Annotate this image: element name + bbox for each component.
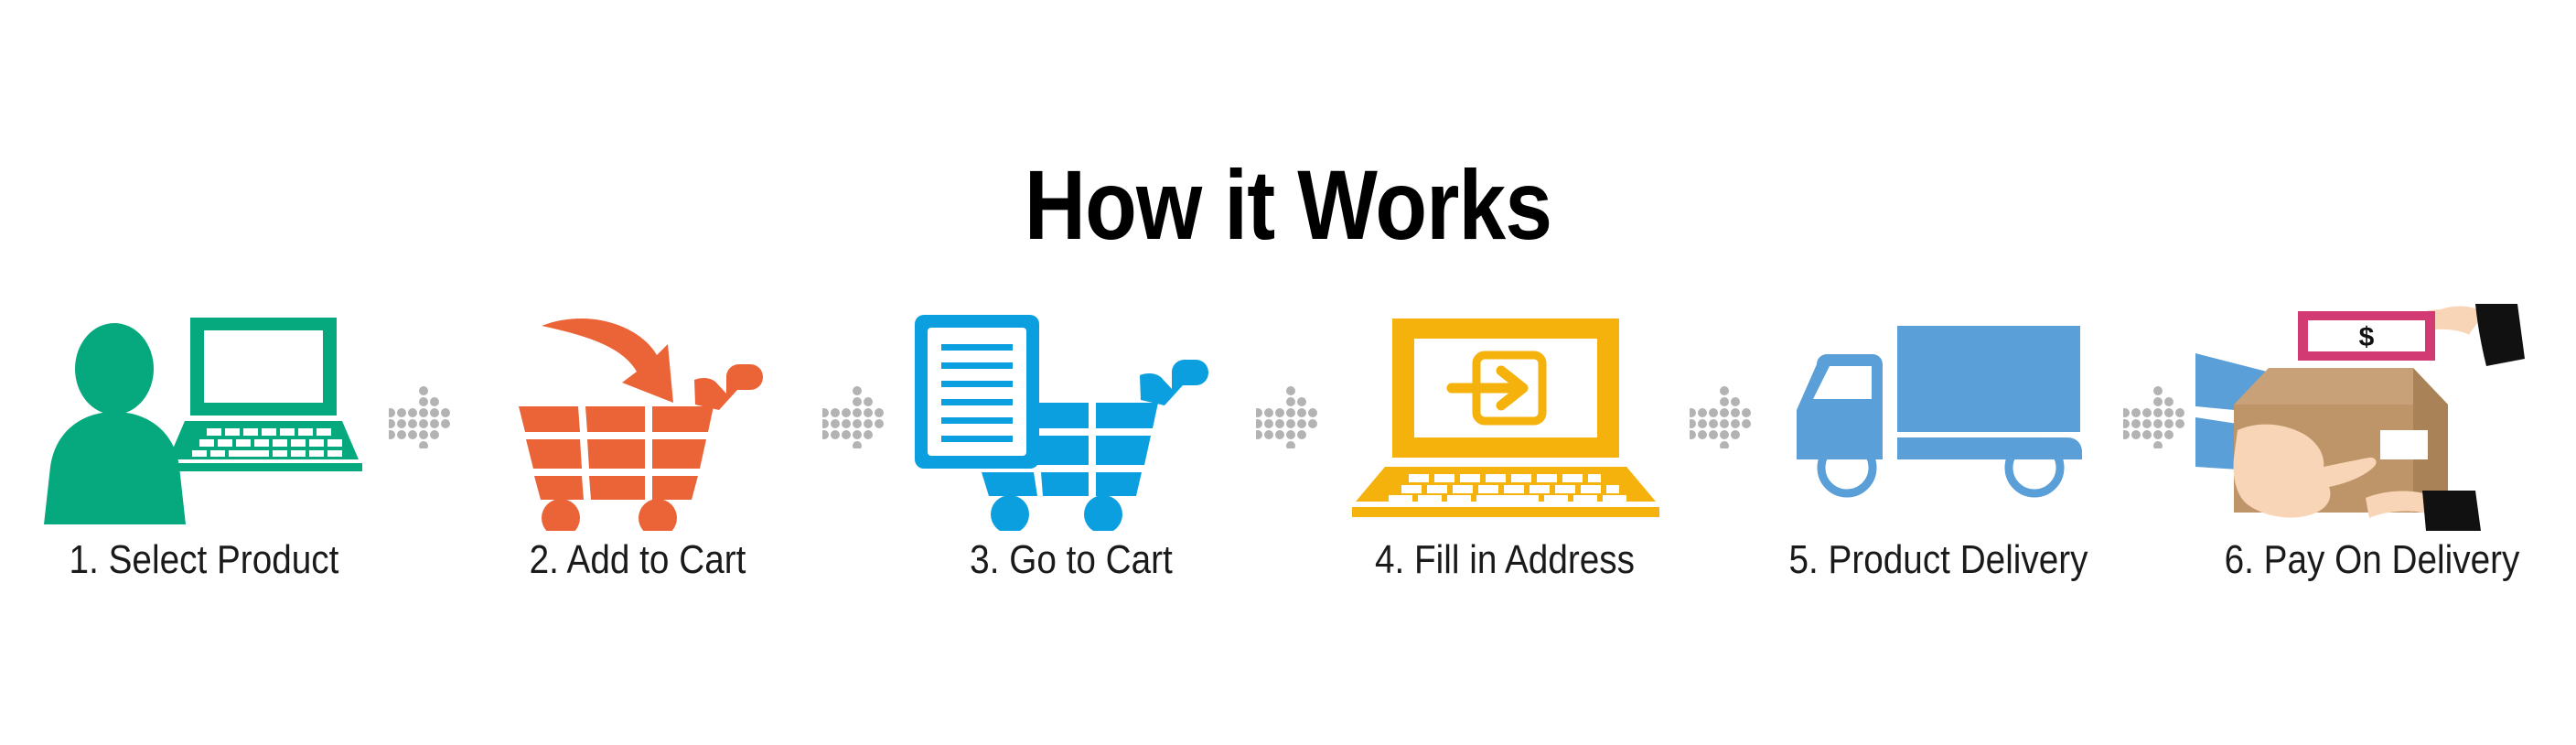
infographic-page: How it Works	[0, 0, 2576, 745]
step-3-label: 3. Go to Cart	[916, 536, 1227, 584]
step-6-label: 6. Pay On Delivery	[2216, 536, 2528, 584]
steps-strip: 1. Select Product	[0, 302, 2576, 632]
delivery-truck-icon	[1762, 302, 2115, 531]
dotted-arrow-right-icon	[814, 302, 895, 531]
step-1-label: 1. Select Product	[48, 536, 360, 584]
document-with-shopping-cart-icon	[895, 302, 1248, 531]
person-with-laptop-icon	[27, 302, 381, 531]
step-5-label: 5. Product Delivery	[1783, 536, 2094, 584]
step-2-label: 2. Add to Cart	[482, 536, 793, 584]
dotted-arrow-right-icon	[2115, 302, 2195, 531]
dotted-arrow-right-icon	[1681, 302, 1762, 531]
step-3-go-to-cart[interactable]: 3. Go to Cart	[895, 302, 1248, 632]
arrow-into-shopping-cart-icon	[461, 302, 814, 531]
step-1-select-product[interactable]: 1. Select Product	[27, 302, 381, 632]
step-6-pay-on-delivery[interactable]: $	[2195, 302, 2549, 632]
step-4-label: 4. Fill in Address	[1349, 536, 1660, 584]
step-2-add-to-cart[interactable]: 2. Add to Cart	[461, 302, 814, 632]
step-4-fill-in-address[interactable]: 4. Fill in Address	[1328, 302, 1681, 632]
step-5-product-delivery[interactable]: 5. Product Delivery	[1762, 302, 2115, 632]
laptop-with-login-arrow-icon	[1328, 302, 1681, 531]
dotted-arrow-right-icon	[1248, 302, 1328, 531]
banknote-dollar-symbol: $	[2359, 322, 2375, 352]
page-title: How it Works	[180, 154, 2396, 256]
dotted-arrow-right-icon	[381, 302, 461, 531]
hands-exchanging-box-and-money-icon: $	[2195, 302, 2549, 531]
